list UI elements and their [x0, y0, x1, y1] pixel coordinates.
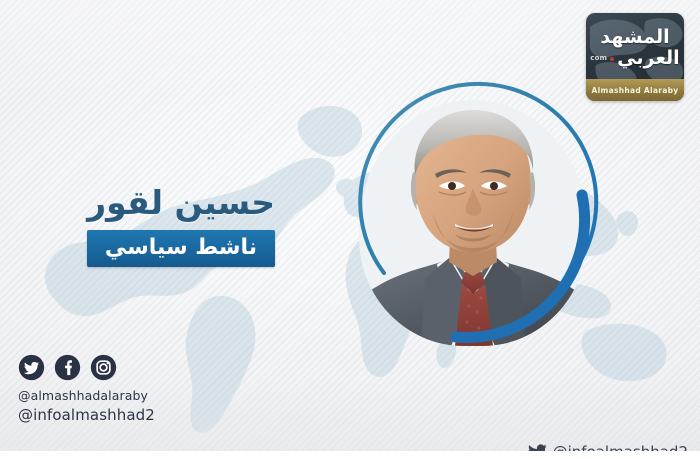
- portrait-container: [347, 94, 599, 346]
- page-title: حسين لقور: [87, 186, 275, 221]
- twitter-icon[interactable]: [18, 354, 45, 381]
- channel-logo[interactable]: المشهد com العربي Almashhad Alaraby: [586, 13, 684, 101]
- social-block: @almashhadalaraby @infoalmashhad2: [18, 354, 155, 425]
- role-badge: ناشط سياسي: [87, 230, 275, 267]
- logo-com-label: com: [590, 55, 607, 62]
- social-icons-row: [18, 354, 155, 381]
- logo-english-name: Almashhad Alaraby: [592, 86, 679, 95]
- logo-arabic-line2: العربي: [617, 49, 680, 68]
- social-handle-primary[interactable]: @almashhadalaraby: [18, 388, 155, 405]
- person-identity-block: حسين لقور ناشط سياسي: [87, 186, 275, 267]
- news-person-card: المشهد com العربي Almashhad Alaraby: [0, 0, 700, 459]
- logo-arabic-line2-row: com العربي: [586, 49, 684, 68]
- logo-arabic-text: المشهد com العربي: [586, 28, 684, 68]
- logo-red-dot-icon: [610, 57, 614, 61]
- facebook-icon[interactable]: [54, 354, 81, 381]
- bottom-white-strip: [0, 451, 700, 459]
- instagram-icon[interactable]: [90, 354, 117, 381]
- status-badge: ناشط سياسي: [105, 235, 257, 260]
- social-handle-secondary[interactable]: @infoalmashhad2: [18, 405, 155, 425]
- portrait-ring: [344, 91, 602, 349]
- logo-arabic-line1: المشهد: [586, 28, 684, 47]
